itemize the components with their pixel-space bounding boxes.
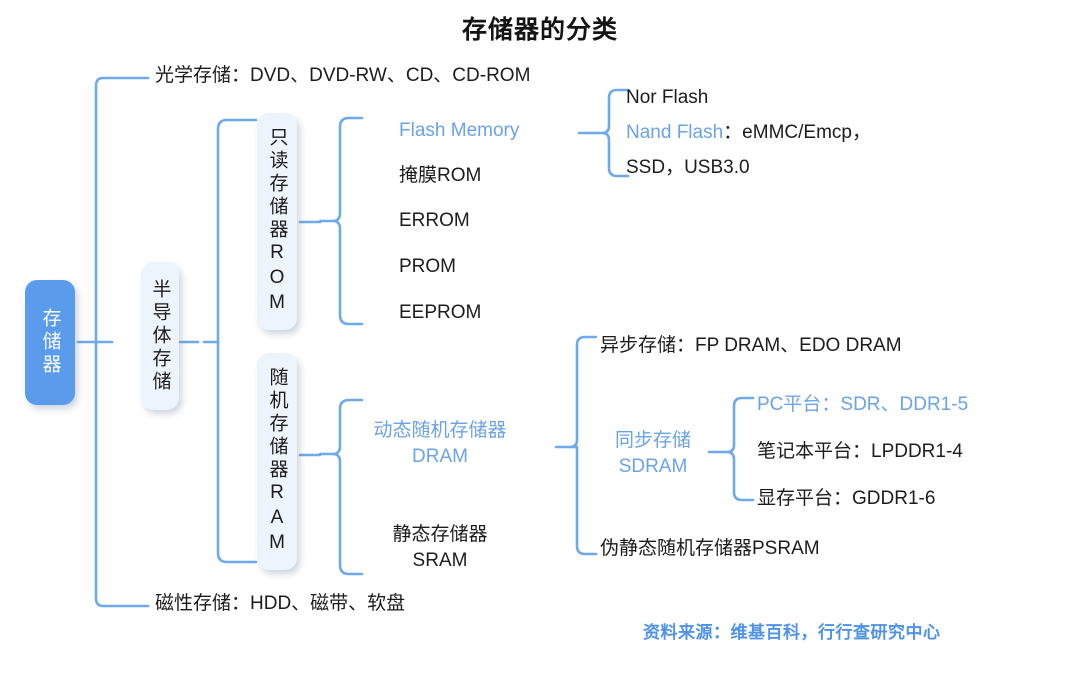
node-nand-flash-label: Nand Flash — [626, 122, 723, 143]
node-nor-flash[interactable]: Nor Flash — [626, 85, 708, 111]
node-nand-flash[interactable]: Nand Flash：eMMC/Emcp， — [626, 120, 871, 146]
bracket-flash-children — [595, 90, 628, 176]
node-dram-line2: DRAM — [360, 444, 520, 470]
node-vram-platform[interactable]: 显存平台：GDDR1-6 — [757, 486, 935, 512]
page-title: 存储器的分类 — [0, 10, 1080, 46]
node-prom[interactable]: PROM — [399, 254, 456, 280]
node-pc-platform[interactable]: PC平台：SDR、DDR1-5 — [757, 392, 968, 418]
node-ram[interactable]: 随机存储器RAM — [257, 353, 297, 570]
node-sdram-line1: 同步存储 — [598, 428, 708, 454]
node-mask-rom[interactable]: 掩膜ROM — [399, 163, 481, 189]
node-sdram[interactable]: 同步存储 SDRAM — [598, 428, 708, 479]
node-semiconductor-storage[interactable]: 半导体存储 — [141, 262, 179, 410]
node-errom[interactable]: ERROM — [399, 208, 470, 234]
node-sram[interactable]: 静态存储器 SRAM — [360, 522, 520, 573]
node-dram[interactable]: 动态随机存储器 DRAM — [360, 418, 520, 469]
node-nand-flash-value: ：eMMC/Emcp， — [723, 122, 871, 143]
bracket-sdram-children — [722, 398, 753, 500]
bracket-rom-children — [320, 118, 362, 324]
bracket-semi — [218, 120, 238, 562]
node-flash-memory[interactable]: Flash Memory — [399, 118, 519, 144]
node-psram[interactable]: 伪静态随机存储器PSRAM — [600, 536, 820, 562]
node-root-storage[interactable]: 存储器 — [25, 280, 75, 405]
node-sdram-line2: SDRAM — [598, 454, 708, 480]
node-nand-flash-value-2[interactable]: SSD，USB3.0 — [626, 155, 750, 181]
node-sram-line2: SRAM — [360, 548, 520, 574]
node-sram-line1: 静态存储器 — [360, 522, 520, 548]
bracket-ram-children — [320, 400, 362, 574]
node-magnetic-storage[interactable]: 磁性存储：HDD、磁带、软盘 — [155, 591, 405, 617]
node-async-storage[interactable]: 异步存储：FP DRAM、EDO DRAM — [600, 333, 902, 359]
node-dram-line1: 动态随机存储器 — [360, 418, 520, 444]
bracket-root — [96, 78, 112, 606]
node-optical-storage[interactable]: 光学存储：DVD、DVD-RW、CD、CD-ROM — [155, 63, 530, 89]
node-rom[interactable]: 只读存储器ROM — [257, 113, 297, 330]
node-laptop-platform[interactable]: 笔记本平台：LPDDR1-4 — [757, 439, 963, 465]
node-eeprom[interactable]: EEPROM — [399, 300, 481, 326]
bracket-dram-children — [570, 337, 596, 554]
diagram-canvas: 存储器的分类 — [0, 0, 1080, 674]
source-note: 资料来源：维基百科，行行查研究中心 — [643, 618, 941, 643]
